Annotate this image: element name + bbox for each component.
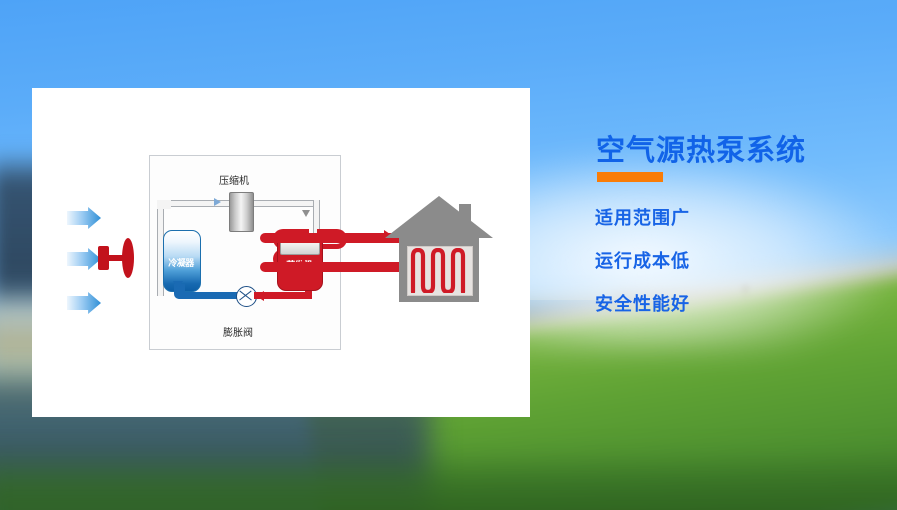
- underfloor-heating-coil: [409, 248, 469, 293]
- compressor-unit: [229, 192, 254, 232]
- house-illustration: [385, 196, 493, 302]
- compressor-label: 压缩机: [219, 172, 249, 187]
- air-arrow-2: [67, 248, 101, 270]
- fan-blade: [122, 238, 134, 278]
- vapour-flow-arrow-right: [302, 210, 310, 217]
- liquid-pipe-bottom: [176, 292, 242, 299]
- hot-flow-arrow-left: [256, 291, 264, 301]
- expansion-valve-label: 膨胀阀: [223, 324, 253, 339]
- hot-pipe-stub-upper: [260, 233, 290, 243]
- arrow-icon: [67, 292, 101, 314]
- air-arrow-1: [67, 207, 101, 229]
- house-roof: [385, 196, 493, 238]
- slide: 压缩机 冷凝器 膨胀阀 蒸发器: [0, 0, 897, 510]
- vapour-corner-tl: [157, 200, 171, 209]
- condenser-label: 冷凝器: [163, 256, 199, 269]
- list-item: 运行成本低: [595, 247, 690, 273]
- vapour-flow-arrow-left: [214, 198, 221, 206]
- list-item: 安全性能好: [595, 290, 690, 316]
- diagram-card: 压缩机 冷凝器 膨胀阀 蒸发器: [32, 88, 530, 417]
- hot-return-arrow: [296, 259, 305, 271]
- fan-icon: [98, 238, 134, 278]
- arrow-icon: [67, 248, 101, 270]
- list-item: 适用范围广: [595, 204, 690, 230]
- arrow-icon: [67, 207, 101, 229]
- hot-pipe-stub-lower: [260, 262, 290, 272]
- feature-list: 适用范围广 运行成本低 安全性能好: [595, 204, 690, 333]
- liquid-flow-arrow: [173, 281, 183, 289]
- blurred-grass-bottom: [0, 450, 897, 510]
- page-title: 空气源热泵系统: [596, 127, 806, 169]
- house-chimney: [459, 204, 471, 240]
- title-underline-rule: [597, 172, 663, 182]
- air-arrow-3: [67, 292, 101, 314]
